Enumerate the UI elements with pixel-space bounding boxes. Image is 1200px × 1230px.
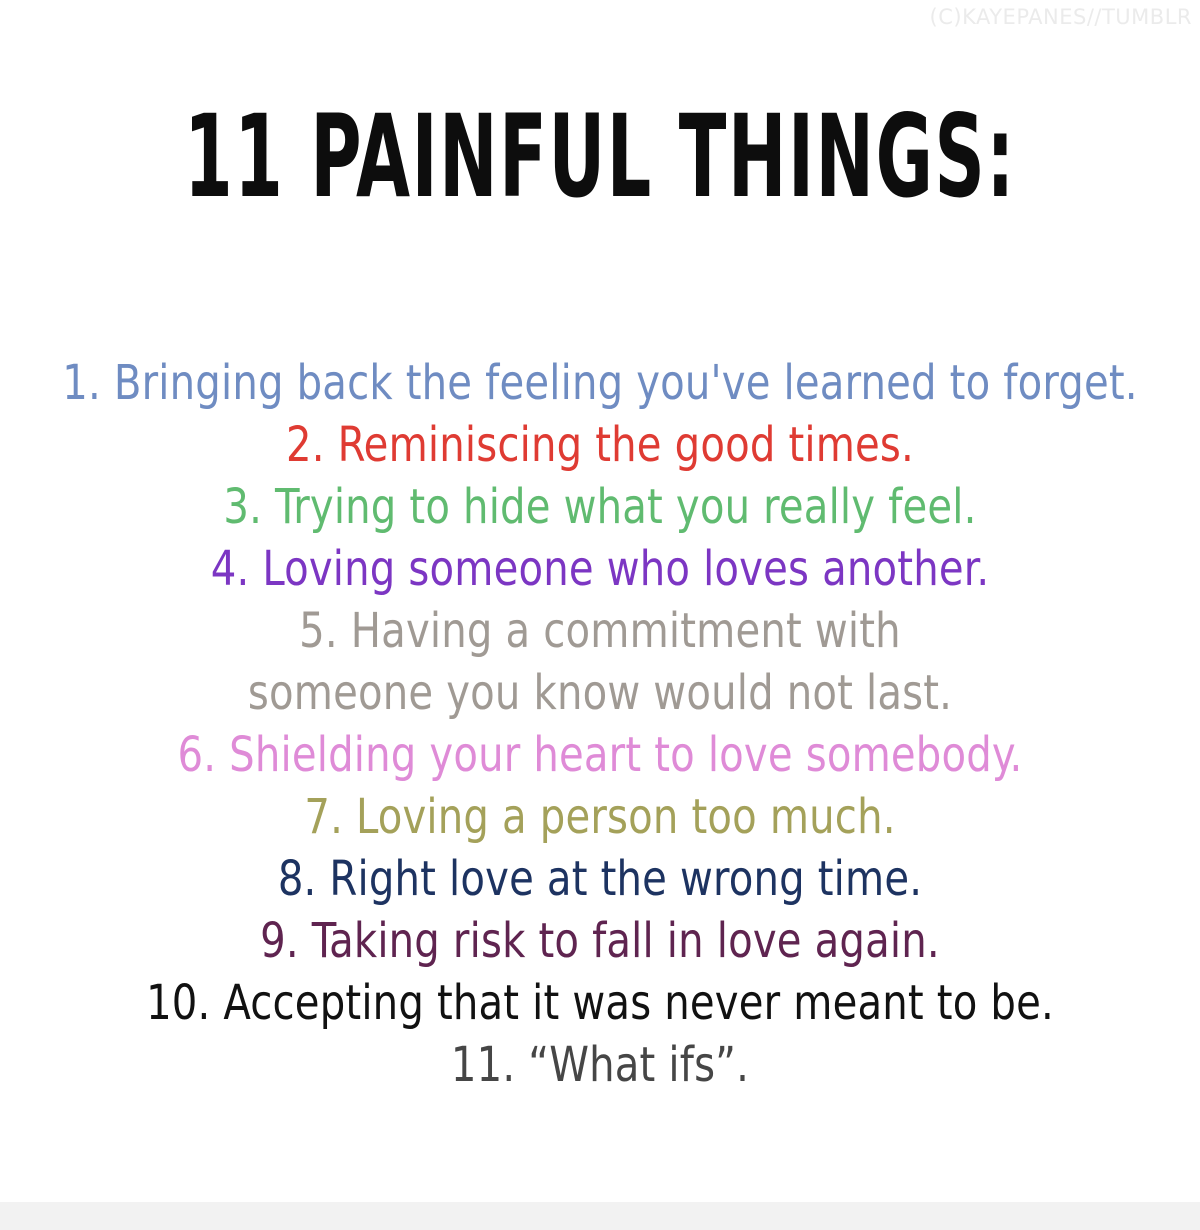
list-item: 3. Trying to hide what you really feel. xyxy=(42,476,1158,538)
footer-bar xyxy=(0,1202,1200,1230)
list-item: 1. Bringing back the feeling you've lear… xyxy=(42,352,1158,414)
watermark-credit: (C)KAYEPANES//TUMBLR xyxy=(930,5,1192,29)
list-item: 9. Taking risk to fall in love again. xyxy=(42,910,1158,972)
painful-things-list: 1. Bringing back the feeling you've lear… xyxy=(0,352,1200,1096)
list-item: 10. Accepting that it was never meant to… xyxy=(42,972,1158,1034)
list-item: 11. “What ifs”. xyxy=(42,1034,1158,1096)
list-item: 2. Reminiscing the good times. xyxy=(42,414,1158,476)
list-item: 8. Right love at the wrong time. xyxy=(42,848,1158,910)
list-item: 4. Loving someone who loves another. xyxy=(42,538,1158,600)
list-item: 5. Having a commitment with someone you … xyxy=(200,600,1000,724)
list-item: 7. Loving a person too much. xyxy=(42,786,1158,848)
list-item: 6. Shielding your heart to love somebody… xyxy=(42,724,1158,786)
page-title: 11 PAINFUL THINGS: xyxy=(120,97,1080,217)
poster-canvas: (C)KAYEPANES//TUMBLR 11 PAINFUL THINGS: … xyxy=(0,0,1200,1202)
